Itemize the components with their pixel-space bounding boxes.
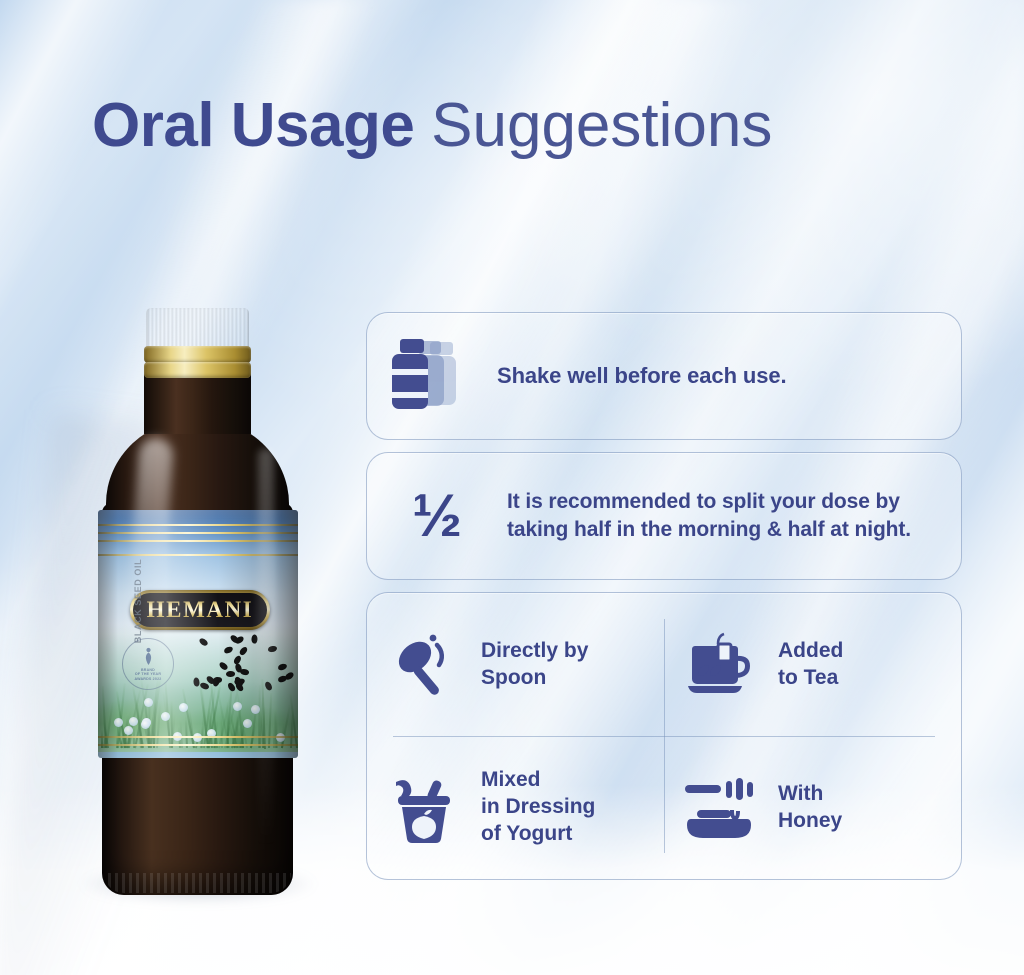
usage-method-honey-label: With Honey: [778, 781, 842, 835]
award-line-3: AWARDS 2022: [135, 677, 162, 681]
usage-method-yogurt: Mixed in Dressing of Yogurt: [367, 736, 664, 879]
usage-method-yogurt-label: Mixed in Dressing of Yogurt: [481, 767, 595, 848]
half-fraction-glyph: ½: [412, 486, 462, 546]
award-seal-text: BRAND OF THE YEAR AWARDS 2022: [135, 668, 162, 681]
half-dose-instruction-text: It is recommended to split your dose by …: [507, 488, 937, 543]
black-seed: [193, 677, 199, 686]
yogurt-label-line-2: in Dressing: [481, 794, 595, 821]
bottle-cap-band-upper: [144, 346, 251, 363]
page-title-light: Suggestions: [431, 91, 772, 160]
tea-label-line-2: to Tea: [778, 665, 843, 692]
product-bottle: HEMANI BLACK SEED OIL BRAND OF THE YEAR …: [72, 298, 322, 898]
label-flower: [144, 698, 153, 707]
label-flower: [124, 726, 133, 735]
yogurt-label-line-1: Mixed: [481, 767, 595, 794]
shaking-bottle-icon: [367, 334, 497, 418]
spoon-label-line-1: Directly by: [481, 638, 588, 665]
label-flower: [243, 719, 252, 728]
label-flower: [161, 712, 170, 721]
usage-method-honey: With Honey: [664, 736, 961, 879]
grid-horizontal-divider: [393, 736, 935, 737]
yogurt-icon: [381, 772, 467, 844]
shake-instruction-text: Shake well before each use.: [497, 361, 787, 390]
bottle-cap-band-lower: [144, 362, 251, 378]
label-flower: [233, 702, 242, 711]
usage-method-tea: Added to Tea: [664, 593, 961, 736]
spoon-label-line-2: Spoon: [481, 665, 588, 692]
bottle-highlight-right: [258, 448, 274, 848]
card-half-dose: ½ It is recommended to split your dose b…: [366, 452, 962, 580]
page-title: Oral Usage Suggestions: [92, 93, 772, 158]
usage-method-spoon-label: Directly by Spoon: [481, 638, 588, 692]
bottle-bottom-ridges: [104, 873, 291, 893]
usage-method-spoon: Directly by Spoon: [367, 593, 664, 736]
half-fraction-icon: ½: [367, 486, 507, 546]
usage-method-tea-label: Added to Tea: [778, 638, 843, 692]
teacup-icon: [678, 630, 764, 700]
tea-label-line-1: Added: [778, 638, 843, 665]
grass-blade: [156, 704, 161, 748]
spoon-icon: [381, 630, 467, 700]
honey-label-line-1: With: [778, 781, 842, 808]
card-shake-well: Shake well before each use.: [366, 312, 962, 440]
bottle-neck: [144, 374, 251, 434]
card-usage-methods: Directly by Spoon: [366, 592, 962, 880]
honey-icon: [678, 777, 764, 839]
yogurt-label-line-3: of Yogurt: [481, 821, 595, 848]
honey-label-line-2: Honey: [778, 808, 842, 835]
page-title-bold: Oral Usage: [92, 91, 414, 160]
label-flower: [129, 717, 138, 726]
label-flower: [179, 703, 188, 712]
